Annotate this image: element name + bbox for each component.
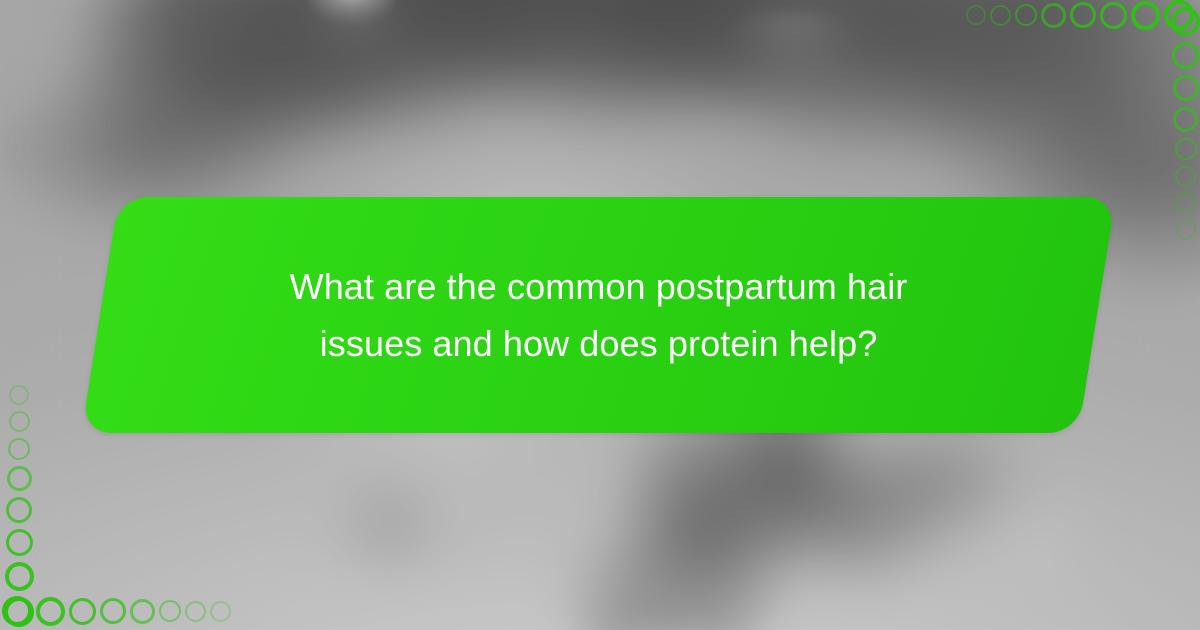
decoration-circle-icon — [7, 466, 32, 491]
decoration-circle-icon — [1171, 7, 1200, 36]
decoration-circle-icon — [130, 599, 155, 624]
decoration-circle-icon — [1041, 3, 1066, 28]
headline-banner: What are the common postpartum hair issu… — [100, 197, 1097, 433]
decoration-circle-icon — [966, 5, 986, 25]
decoration-circle-icon — [9, 385, 29, 405]
decoration-circle-icon — [1015, 4, 1037, 26]
decoration-dots-bottom-left-row — [0, 596, 233, 626]
decoration-circle-icon — [185, 601, 206, 622]
promo-card: What are the common postpartum hair issu… — [0, 0, 1200, 630]
decoration-dots-top-right-row — [964, 0, 1196, 30]
decoration-circle-icon — [6, 497, 32, 523]
decoration-circle-icon — [100, 598, 126, 624]
decoration-circle-icon — [159, 600, 181, 622]
decoration-circle-icon — [1176, 220, 1196, 240]
decoration-circle-icon — [1070, 2, 1096, 28]
decoration-circle-icon — [36, 597, 65, 626]
decoration-circle-icon — [1100, 2, 1127, 29]
decoration-circle-icon — [990, 5, 1011, 26]
decoration-circle-icon — [6, 529, 33, 556]
decoration-circle-icon — [1175, 166, 1196, 187]
decoration-circle-icon — [8, 438, 30, 460]
decoration-circle-icon — [1175, 193, 1196, 214]
decoration-circle-icon — [210, 601, 231, 622]
decoration-circle-icon — [1173, 107, 1198, 132]
decoration-dots-bottom-left-column — [4, 382, 34, 630]
decoration-circle-icon — [1131, 1, 1160, 30]
page-title: What are the common postpartum hair issu… — [249, 258, 949, 372]
decoration-circle-icon — [69, 598, 96, 625]
decoration-circle-icon — [9, 411, 30, 432]
decoration-dots-top-right-column — [1171, 4, 1200, 243]
decoration-circle-icon — [1175, 138, 1197, 160]
decoration-circle-icon — [2, 596, 32, 626]
banner-text-area: What are the common postpartum hair issu… — [100, 197, 1097, 433]
decoration-circle-icon — [1172, 42, 1199, 69]
decoration-circle-icon — [1173, 75, 1199, 101]
decoration-circle-icon — [5, 562, 34, 591]
